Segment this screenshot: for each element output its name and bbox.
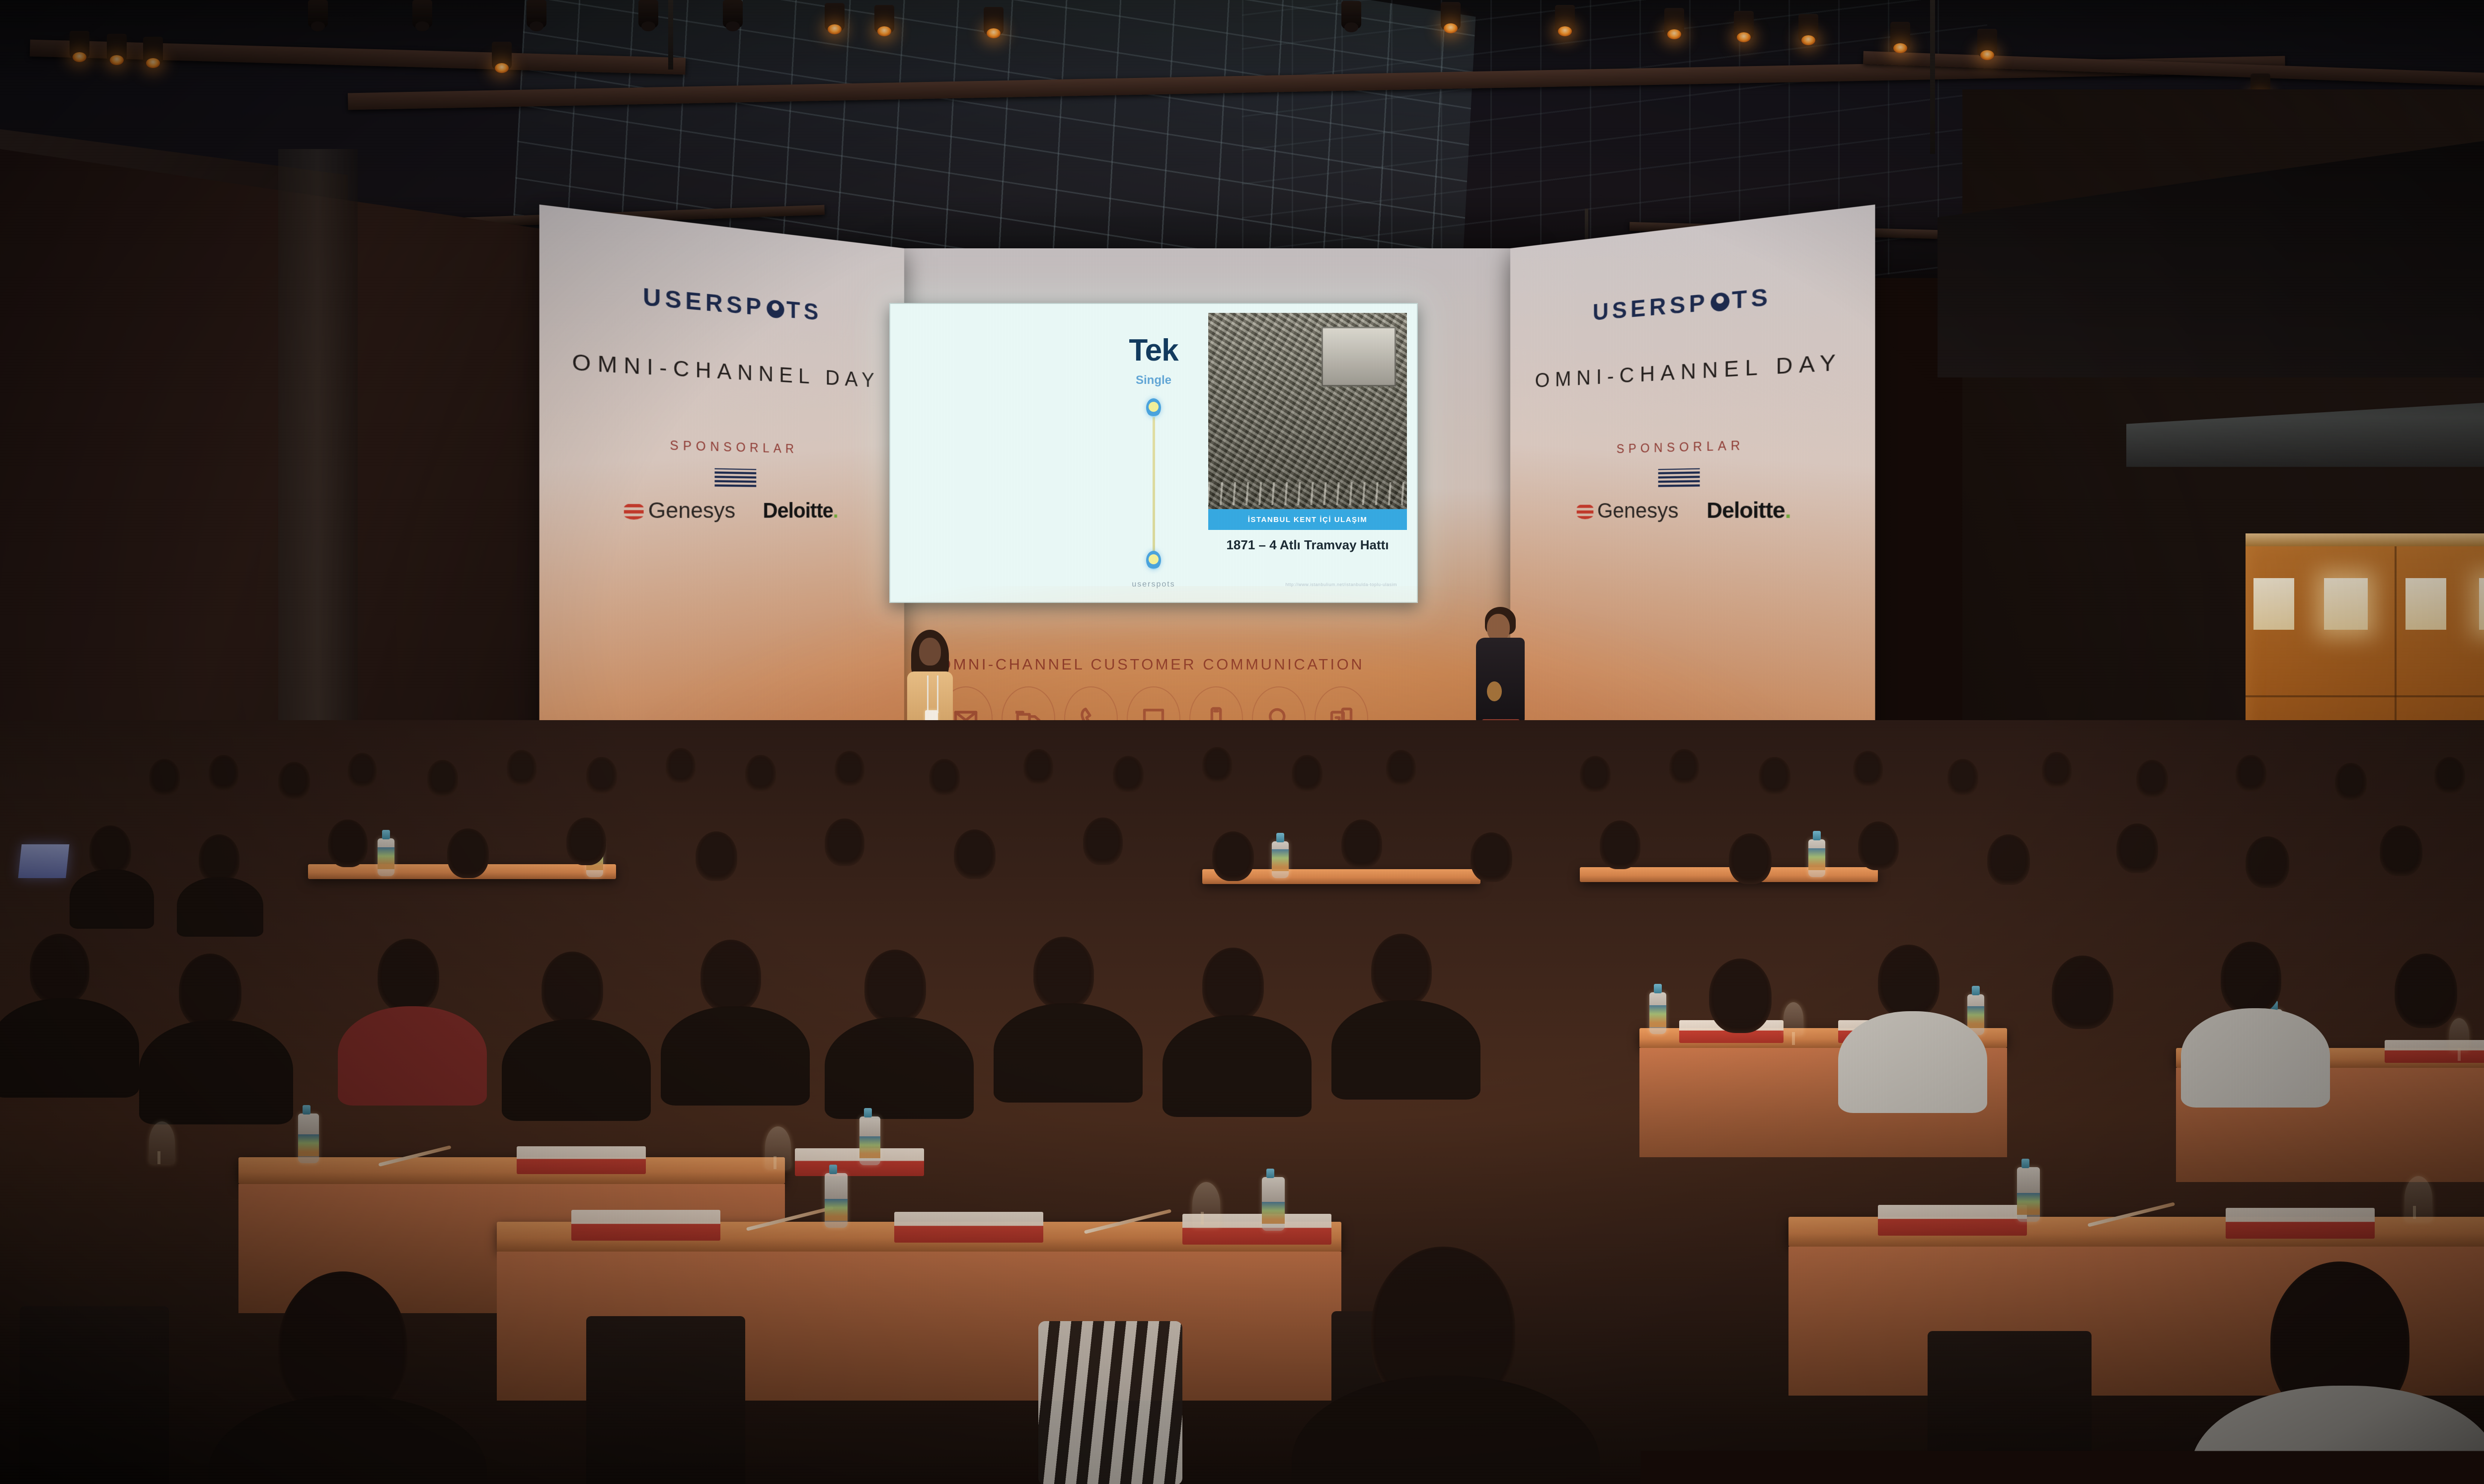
stage-spotlight [874,5,894,33]
presenter-head [919,638,941,666]
logo-dot-icon [767,299,784,319]
genesys-mark-icon [624,503,644,519]
wall-light-aperture [2479,578,2484,630]
audience-head [1987,834,2030,885]
audience-shoulders [177,877,263,937]
audience-head [89,825,131,875]
genesys-logo-right: Genesys [1576,499,1678,523]
audience-shoulders [1163,1015,1312,1117]
slide-caption-text: 1871 – 4 Atlı Tramvay Hattı [1208,537,1407,553]
audience-shoulders [825,1017,974,1119]
logo-text-user-r: USERSP [1593,290,1709,326]
stage-spotlight [1441,2,1461,30]
branded-placemat [2226,1208,2375,1239]
wall-light-aperture [2406,578,2446,630]
water-bottle [1262,1177,1285,1231]
audience-head [199,834,239,883]
deloitte-logo-right: Deloitte. [1707,498,1790,523]
sponsors-label-right: SPONSORLAR [1510,434,1875,459]
audience-head [1947,759,1978,796]
audience-head [700,940,761,1012]
conference-hall-photo: USERSPTS OMNI-CHANNEL DAY SPONSORLAR Gen… [0,0,2484,1484]
presentation-slide: Tek Single İSTANBUL KENT İÇİ ULAŞIM 1871… [890,304,1417,602]
backdrop-title-right: OMNI-CHANNEL DAY [1510,348,1875,394]
branded-placemat [517,1146,646,1174]
wine-glass [1192,1182,1220,1228]
audience-head [1202,747,1232,783]
audience-head [2221,942,2281,1014]
audience-head [2434,757,2465,794]
audience-head [1371,934,1432,1006]
userspots-logo-right: USERSPTS [1510,274,1875,333]
slide-footer-url: http://www.istanbulium.net/istanbulda-to… [1285,582,1397,587]
audience-head [209,755,238,791]
stage-spotlight [1890,22,1910,50]
stage-spotlight [1341,1,1361,29]
audience-head [2236,755,2266,792]
audience-head [1600,820,1640,869]
audience-laptop [18,844,69,878]
stage-spotlight [412,0,432,28]
audience-shoulders [661,1006,810,1106]
deloitte-dot: . [1785,498,1791,523]
audience-head [2116,823,2158,873]
projection-screen: Tek Single İSTANBUL KENT İÇİ ULAŞIM 1871… [889,303,1418,603]
panel-seam [2246,695,2484,697]
stage-spotlight [527,0,546,28]
wine-glass [765,1126,791,1169]
audience-head [954,829,996,879]
audience-head [566,817,606,865]
audience-head [447,828,489,878]
audience-head [542,952,603,1025]
stage-spotlight [723,0,743,28]
audience-head [696,831,737,881]
lanyard-strap [927,675,929,713]
water-bottle [859,1116,880,1165]
audience-head [1858,821,1899,870]
timeline-line [1153,408,1155,557]
audience-head [1853,751,1883,787]
audience-shoulders-light [1838,1011,1987,1113]
stage-spotlight [984,7,1004,35]
audience-head [278,762,310,800]
striped-jacket-attendee [1038,1321,1182,1484]
banner-headline: OMNI-CHANNEL CUSTOMER COMMUNICATION [939,656,1441,673]
stage-spotlight [143,37,163,65]
audience-head [2052,956,2113,1029]
brand-block-right: USERSPTS OMNI-CHANNEL DAY SPONSORLAR Gen… [1510,274,1875,524]
audience-head [2246,836,2289,888]
lanyard-strap [937,675,938,713]
tram-car [1321,327,1396,386]
audience-head [1033,937,1094,1009]
audience-shoulders [70,869,154,929]
audience-head [2395,954,2457,1028]
stage-spotlight [1798,14,1818,42]
audience-head [745,755,776,792]
branded-placemat [571,1210,720,1241]
audience-head [1729,833,1772,884]
logo-text-ts: TS [786,297,822,326]
stage-spotlight [1664,8,1684,36]
slide-caption-band: İSTANBUL KENT İÇİ ULAŞIM [1208,509,1407,530]
sponsors-label-left: SPONSORLAR [540,434,904,459]
audience-head [1113,756,1144,793]
genesys-logo-left: Genesys [624,498,736,523]
timeline-node-top [1146,398,1161,417]
water-bottle [298,1113,319,1163]
deloitte-label-left: Deloitte [763,499,833,522]
audience-head [586,757,617,794]
pendant-light-cable [668,0,673,70]
genesys-label-right: Genesys [1597,499,1679,523]
wine-glass [2449,1018,2469,1051]
brand-block-left: USERSPTS OMNI-CHANNEL DAY SPONSORLAR Gen… [540,274,904,524]
audience-shoulders-red [338,1006,487,1106]
audience-head [1386,750,1416,786]
audience-shoulders [502,1019,651,1121]
blazer-elbow-patch [1487,681,1502,701]
audience-head [378,939,439,1012]
water-bottle [825,1173,848,1228]
historical-tram-photo [1208,313,1407,509]
audience-head [1341,819,1382,868]
audience-head [864,950,926,1023]
pendant-light-cable [1930,0,1935,154]
audience-shoulders [139,1020,293,1124]
water-bottle [1272,841,1289,878]
banquet-table [1580,867,1878,882]
left-pillar [278,149,358,745]
stage-spotlight [1734,11,1754,39]
water-bottle [2017,1167,2040,1222]
tram-rails [1208,482,1407,505]
audience-head [835,751,864,787]
audience-shoulders-light [2181,1008,2330,1108]
audience-head [1292,755,1322,792]
wine-glass [2405,1176,2432,1222]
deloitte-logo-left: Deloitte. [763,499,838,523]
logo-text-user: USERSP [643,284,765,321]
water-bottle [1649,992,1666,1034]
stage-spotlight [1555,5,1575,33]
audience-shoulders [994,1003,1143,1103]
audience-head [2380,825,2422,876]
audience-shoulders [0,998,139,1098]
stage-spotlight [70,31,89,59]
audience-head [1709,959,1772,1033]
audience-head [1202,948,1264,1021]
genesys-label-left: Genesys [648,499,735,523]
audience-head [348,753,377,788]
ibm-logo-left [715,468,757,487]
logo-text-ts-r: TS [1732,284,1772,314]
audience-head [507,750,537,786]
audience-head [2136,760,2168,798]
branded-placemat [1878,1205,2027,1236]
timeline-node-bottom [1146,551,1161,570]
audience-head [2042,752,2072,788]
audience-head [1669,749,1699,785]
water-bottle [378,838,394,876]
userspots-logo-left: USERSPTS [540,274,904,333]
audience-head [179,954,241,1028]
water-bottle [1808,839,1825,877]
audience-head [1878,945,1940,1018]
audience-head [1083,817,1123,865]
audience-area [0,720,2484,1484]
chair [1928,1331,2092,1484]
logo-dot-icon [1711,292,1730,312]
audience-head [1212,831,1254,881]
branded-placemat [894,1212,1043,1243]
audience-head [2335,763,2367,801]
deloitte-label-right: Deloitte [1707,499,1785,523]
presenter-blazer [1476,638,1525,722]
audience-head [929,759,960,796]
stage-spotlight [638,0,658,28]
audience-head [1580,756,1611,793]
branded-placemat [2385,1040,2484,1063]
stage-spotlight [492,42,512,70]
backdrop-title-left: OMNI-CHANNEL DAY [540,348,904,394]
sponsor-logo-row-right: Genesys Deloitte. [1510,498,1875,523]
audience-head [666,748,696,784]
ibm-logo-right [1658,468,1700,487]
wine-glass [1784,1002,1803,1035]
wine-glass [149,1121,175,1164]
audience-head [30,934,89,1004]
chair [586,1316,745,1484]
audience-head [1023,749,1053,785]
audience-head [1471,832,1512,882]
stage-spotlight [1977,29,1997,57]
audience-head [149,759,180,796]
chair [20,1306,169,1484]
stage-spotlight [308,0,328,28]
stage-spotlight [107,34,127,62]
audience-head [328,819,368,867]
wall-light-aperture [2324,578,2368,630]
stage-spotlight [825,3,845,31]
audience-head [427,760,458,797]
audience-head [825,818,864,866]
audience-shoulders [1331,1000,1480,1100]
sponsor-logo-row-left: Genesys Deloitte. [540,498,904,523]
banquet-table [238,1157,785,1184]
deloitte-dot: . [833,500,838,522]
genesys-mark-icon [1576,504,1593,519]
wall-light-aperture [2253,578,2294,630]
audience-head [1759,757,1790,795]
